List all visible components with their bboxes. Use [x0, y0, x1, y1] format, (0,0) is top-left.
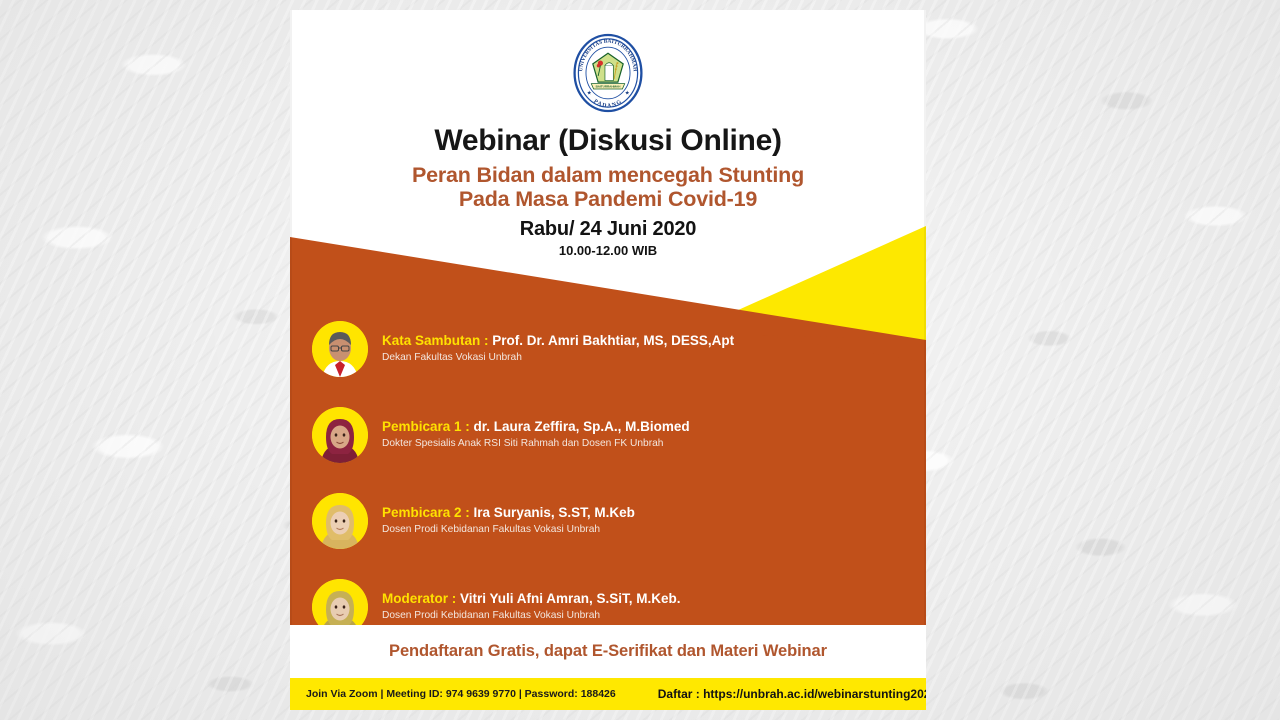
- logo-container: UNIVERSITAS BAITURRAHMAH PADANG: [290, 32, 926, 114]
- speaker-affiliation: Dokter Spesialis Anak RSI Siti Rahmah da…: [382, 437, 690, 450]
- speaker-text: Moderator : Vitri Yuli Afni Amran, S.SiT…: [376, 591, 681, 622]
- avatar-laura-zeffira: [312, 407, 368, 463]
- avatar-amri-bakhtiar: [312, 321, 368, 377]
- speaker-row: Kata Sambutan : Prof. Dr. Amri Bakhtiar,…: [290, 306, 926, 392]
- speaker-role-line: Moderator : Vitri Yuli Afni Amran, S.SiT…: [382, 591, 681, 608]
- speaker-name: dr. Laura Zeffira, Sp.A., M.Biomed: [474, 419, 690, 434]
- subtitle-line-1: Peran Bidan dalam mencegah Stunting: [412, 163, 804, 187]
- speaker-text: Pembicara 2 : Ira Suryanis, S.ST, M.Keb …: [376, 505, 635, 536]
- webinar-poster: UNIVERSITAS BAITURRAHMAH PADANG: [290, 10, 926, 710]
- speaker-role: Pembicara 2 :: [382, 505, 474, 520]
- speaker-row: Pembicara 2 : Ira Suryanis, S.ST, M.Keb …: [290, 478, 926, 564]
- speaker-role: Moderator :: [382, 591, 460, 606]
- speaker-name: Vitri Yuli Afni Amran, S.SiT, M.Keb.: [460, 591, 681, 606]
- speaker-text: Kata Sambutan : Prof. Dr. Amri Bakhtiar,…: [376, 333, 734, 364]
- event-date: Rabu/ 24 Juni 2020: [290, 218, 926, 241]
- avatar-ira-suryanis: [312, 493, 368, 549]
- speaker-affiliation: Dosen Prodi Kebidanan Fakultas Vokasi Un…: [382, 609, 681, 622]
- registration-link[interactable]: Daftar : https://unbrah.ac.id/webinarstu…: [658, 687, 926, 701]
- speakers-list: Kata Sambutan : Prof. Dr. Amri Bakhtiar,…: [290, 306, 926, 650]
- poster-title: Webinar (Diskusi Online): [290, 124, 926, 157]
- speaker-affiliation: Dosen Prodi Kebidanan Fakultas Vokasi Un…: [382, 523, 635, 536]
- speaker-role-line: Pembicara 2 : Ira Suryanis, S.ST, M.Keb: [382, 505, 635, 522]
- speaker-name: Ira Suryanis, S.ST, M.Keb: [474, 505, 635, 520]
- speaker-affiliation: Dekan Fakultas Vokasi Unbrah: [382, 351, 734, 364]
- speaker-row: Pembicara 1 : dr. Laura Zeffira, Sp.A., …: [290, 392, 926, 478]
- svg-text:BAITURRAHMAH: BAITURRAHMAH: [596, 84, 621, 88]
- speaker-role-line: Pembicara 1 : dr. Laura Zeffira, Sp.A., …: [382, 419, 690, 436]
- university-seal-icon: UNIVERSITAS BAITURRAHMAH PADANG: [570, 32, 646, 114]
- poster-header: UNIVERSITAS BAITURRAHMAH PADANG: [290, 10, 926, 258]
- poster-subtitle: Peran Bidan dalam mencegah Stunting Pada…: [290, 163, 926, 211]
- registration-note-band: Pendaftaran Gratis, dapat E-Serifikat da…: [290, 625, 926, 678]
- speaker-name: Prof. Dr. Amri Bakhtiar, MS, DESS,Apt: [492, 333, 734, 348]
- poster-footer: Join Via Zoom | Meeting ID: 974 9639 977…: [290, 678, 926, 710]
- svg-text:★: ★: [625, 90, 630, 96]
- registration-note: Pendaftaran Gratis, dapat E-Serifikat da…: [389, 642, 827, 661]
- speaker-role: Pembicara 1 :: [382, 419, 474, 434]
- screenshot-stage: UNIVERSITAS BAITURRAHMAH PADANG: [0, 0, 1280, 720]
- svg-text:★: ★: [587, 90, 592, 96]
- subtitle-line-2: Pada Masa Pandemi Covid-19: [290, 187, 926, 211]
- zoom-meeting-info: Join Via Zoom | Meeting ID: 974 9639 977…: [306, 688, 616, 700]
- speaker-role: Kata Sambutan :: [382, 333, 492, 348]
- speaker-text: Pembicara 1 : dr. Laura Zeffira, Sp.A., …: [376, 419, 690, 450]
- speaker-role-line: Kata Sambutan : Prof. Dr. Amri Bakhtiar,…: [382, 333, 734, 350]
- event-time: 10.00-12.00 WIB: [290, 243, 926, 258]
